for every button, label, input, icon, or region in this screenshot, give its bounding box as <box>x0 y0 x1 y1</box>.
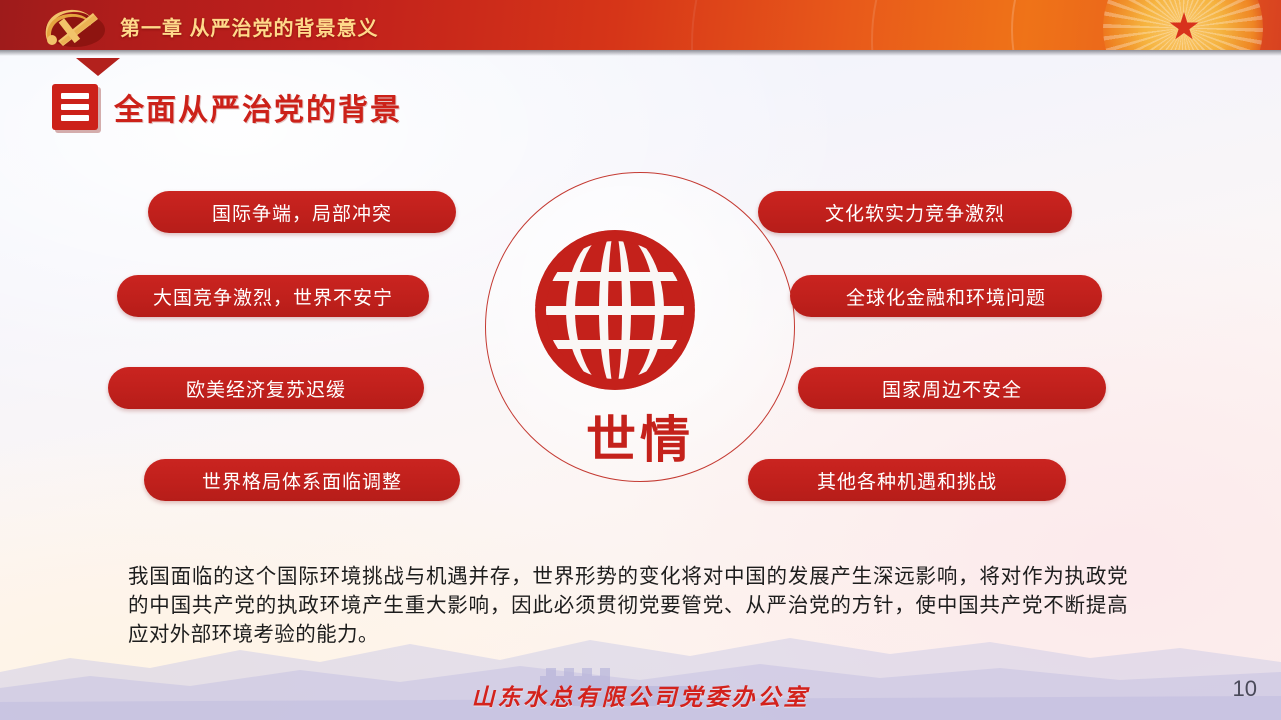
pill-left-4[interactable]: 世界格局体系面临调整 <box>144 459 460 501</box>
cpc-hammer-sickle-emblem <box>36 4 114 48</box>
pill-right-2[interactable]: 全球化金融和环境问题 <box>790 275 1102 317</box>
organization-footer: 山东水总有限公司党委办公室 <box>0 678 1281 712</box>
page-number: 10 <box>1233 676 1257 702</box>
pill-left-1[interactable]: 国际争端，局部冲突 <box>148 191 456 233</box>
slide-canvas: 第一章 从严治党的背景意义 全面从严治党的背景 世情 国际争端，局部冲突 大国竞… <box>0 0 1281 720</box>
pill-left-3[interactable]: 欧美经济复苏迟缓 <box>108 367 424 409</box>
triangle-down-icon <box>76 58 120 76</box>
pill-right-3[interactable]: 国家周边不安全 <box>798 367 1106 409</box>
pill-right-4[interactable]: 其他各种机遇和挑战 <box>748 459 1066 501</box>
center-label: 世情 <box>485 400 795 472</box>
decorative-ring-icon <box>691 0 1161 50</box>
globe-icon <box>535 230 695 390</box>
pill-left-2[interactable]: 大国竞争激烈，世界不安宁 <box>117 275 429 317</box>
chapter-banner: 第一章 从严治党的背景意义 <box>0 0 1281 50</box>
pill-right-1[interactable]: 文化软实力竞争激烈 <box>758 191 1072 233</box>
banner-shadow <box>0 50 1281 56</box>
section-title: 全面从严治党的背景 <box>114 85 402 129</box>
three-bars-icon <box>52 84 98 130</box>
chapter-title: 第一章 从严治党的背景意义 <box>120 12 379 41</box>
